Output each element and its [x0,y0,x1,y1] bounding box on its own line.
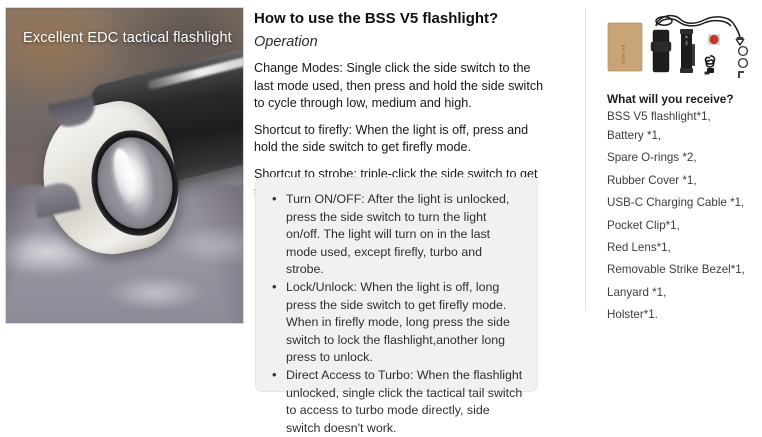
holster-icon [651,30,671,72]
hero-caption: Excellent EDC tactical flashlight [23,30,232,46]
list-item: Pocket Clip*1, [607,215,757,237]
hero-image: Excellent EDC tactical flashlight [5,7,244,324]
receive-heading: What will you receive? [607,92,734,106]
list-item: USB-C Charging Cable *1, [607,192,757,214]
section-subtitle: Operation [254,33,546,51]
column-divider [585,8,586,311]
list-item: Spare O-rings *2, [607,147,757,169]
kit-contents-illustration: TUR-V5 [600,6,755,88]
kit-contents-image: TUR-V5 [600,6,755,88]
paragraph-shortcut-firefly: Shortcut to firefly: When the light is o… [254,122,546,157]
cardboard-box-icon: TUR-V5 [608,23,642,71]
paragraph-change-modes: Change Modes: Single click the side swit… [254,60,546,113]
receive-list: BSS V5 flashlight*1, Battery *1, Spare O… [607,108,757,327]
list-item: BSS V5 flashlight*1, [607,108,757,125]
list-item: Rubber Cover *1, [607,170,757,192]
feature-list: Turn ON/OFF: After the light is unlocked… [256,178,537,437]
list-item: Lanyard *1, [607,282,757,304]
list-item: Red Lens*1, [607,237,757,259]
svg-text:TUR-V5: TUR-V5 [621,44,626,64]
list-item: Removable Strike Bezel*1, [607,259,757,281]
list-item: Lock/Unlock: When the light is off, long… [286,279,523,367]
list-item: Turn ON/OFF: After the light is unlocked… [286,191,523,279]
page-title: How to use the BSS V5 flashlight? [254,0,546,28]
red-lens-icon [708,34,720,45]
feature-panel: Turn ON/OFF: After the light is unlocked… [255,177,538,392]
list-item: Holster*1. [607,304,757,326]
list-item: Direct Access to Turbo: When the flashli… [286,367,523,437]
list-item: Battery *1, [607,125,757,147]
instructions-column: How to use the BSS V5 flashlight? Operat… [254,0,546,201]
